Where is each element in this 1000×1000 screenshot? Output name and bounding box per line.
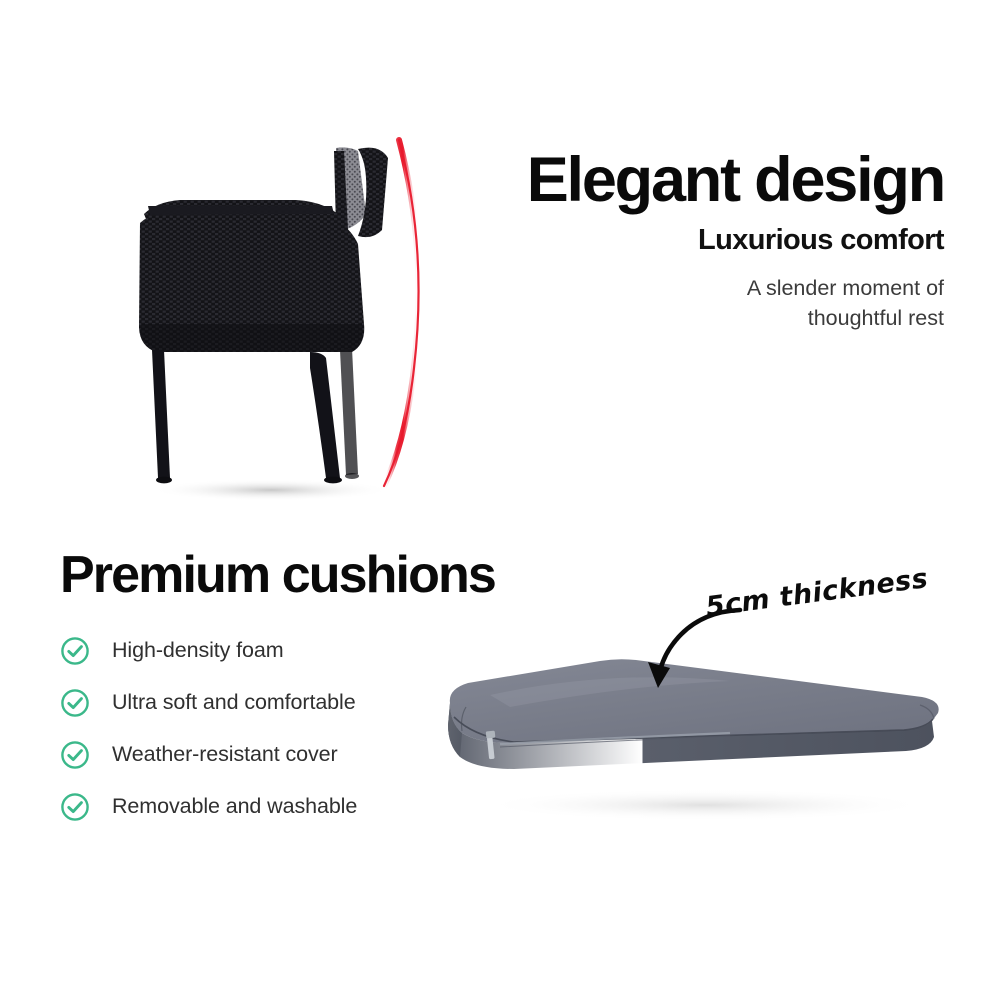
elegant-design-text-block: Elegant design Luxurious comfort A slend… xyxy=(424,150,944,334)
check-circle-icon xyxy=(60,792,90,822)
feature-label: Removable and washable xyxy=(112,794,357,819)
thickness-note-label: 5cm thickness xyxy=(704,563,930,623)
elegant-design-description: A slender moment of thoughtful rest xyxy=(424,273,944,334)
feature-label: Weather-resistant cover xyxy=(112,742,338,767)
wicker-armchair-side-view-icon xyxy=(96,118,446,508)
feature-label: High-density foam xyxy=(112,638,284,663)
check-circle-icon xyxy=(60,740,90,770)
elegant-design-headline: Elegant design xyxy=(424,150,944,212)
elegant-design-subhead: Luxurious comfort xyxy=(424,224,944,257)
description-line-2: thoughtful rest xyxy=(424,303,944,334)
check-circle-icon xyxy=(60,688,90,718)
chair-product-image xyxy=(96,118,446,508)
feature-label: Ultra soft and comfortable xyxy=(112,690,356,715)
thickness-annotation: 5cm thickness xyxy=(636,588,966,698)
infographic-canvas: Elegant design Luxurious comfort A slend… xyxy=(0,0,1000,1000)
premium-cushions-headline: Premium cushions xyxy=(60,548,660,603)
description-line-1: A slender moment of xyxy=(424,273,944,304)
check-circle-icon xyxy=(60,636,90,666)
